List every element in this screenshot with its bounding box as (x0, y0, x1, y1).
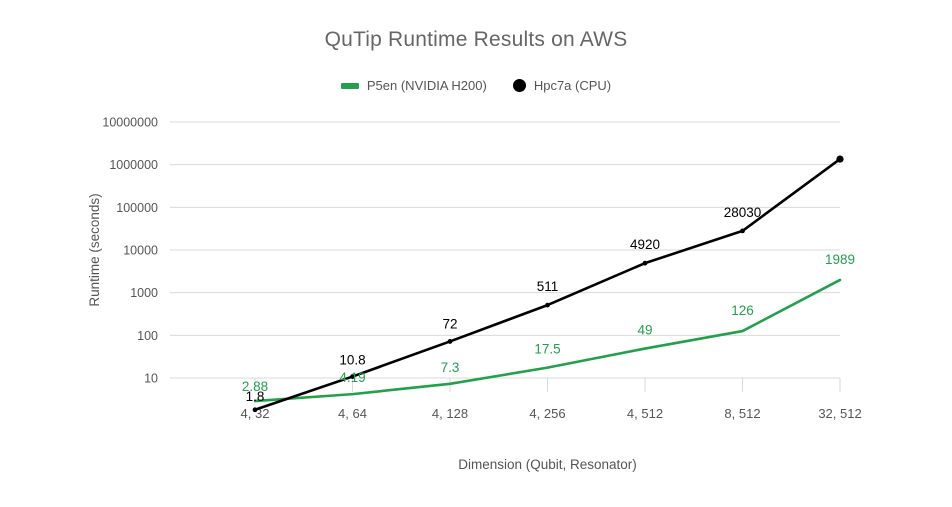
data-point-label: 4920 (630, 237, 660, 252)
data-point-label: 10.8 (339, 353, 365, 368)
data-point-label: 511 (537, 279, 559, 294)
x-axis-category-label: 8, 512 (724, 406, 760, 421)
data-point-marker[interactable] (836, 156, 843, 163)
x-axis-title: Dimension (Qubit, Resonator) (458, 457, 637, 472)
data-point-marker[interactable] (545, 303, 550, 308)
data-point-label: 72 (442, 316, 457, 331)
plot-area: 100000001000000100000100001000100104, 32… (0, 0, 952, 507)
chart-container: QuTip Runtime Results on AWS P5en (NVIDI… (0, 0, 952, 507)
data-point-label: 17.5 (534, 342, 560, 357)
data-point-label: 4.19 (339, 370, 365, 385)
x-axis-category-label: 4, 256 (529, 406, 565, 421)
data-point-label: 28030 (724, 205, 762, 220)
y-axis-tick-label: 1000 (130, 286, 158, 300)
y-axis-tick-label: 1000000 (109, 158, 158, 172)
x-axis-category-label: 32, 512 (818, 406, 861, 421)
data-point-label: 1989 (825, 252, 855, 267)
data-point-label: 7.3 (441, 360, 460, 375)
y-axis-tick-label: 100 (137, 329, 158, 343)
x-axis-category-label: 4, 128 (432, 406, 468, 421)
data-point-marker[interactable] (253, 407, 258, 412)
data-point-marker[interactable] (643, 261, 648, 266)
data-point-label: 49 (637, 323, 652, 338)
y-axis-tick-label: 100000 (116, 201, 158, 215)
data-point-marker[interactable] (740, 229, 745, 234)
x-axis-category-label: 4, 64 (338, 406, 367, 421)
y-axis-title: Runtime (seconds) (87, 193, 102, 306)
y-axis-tick-label: 10 (144, 372, 158, 386)
y-axis-tick-label: 10000000 (102, 116, 158, 130)
data-point-label: 126 (731, 303, 754, 318)
data-point-marker[interactable] (448, 339, 453, 344)
y-axis-tick-label: 10000 (123, 244, 158, 258)
data-point-label: 1.8 (246, 389, 265, 404)
x-axis-category-label: 4, 512 (627, 406, 663, 421)
